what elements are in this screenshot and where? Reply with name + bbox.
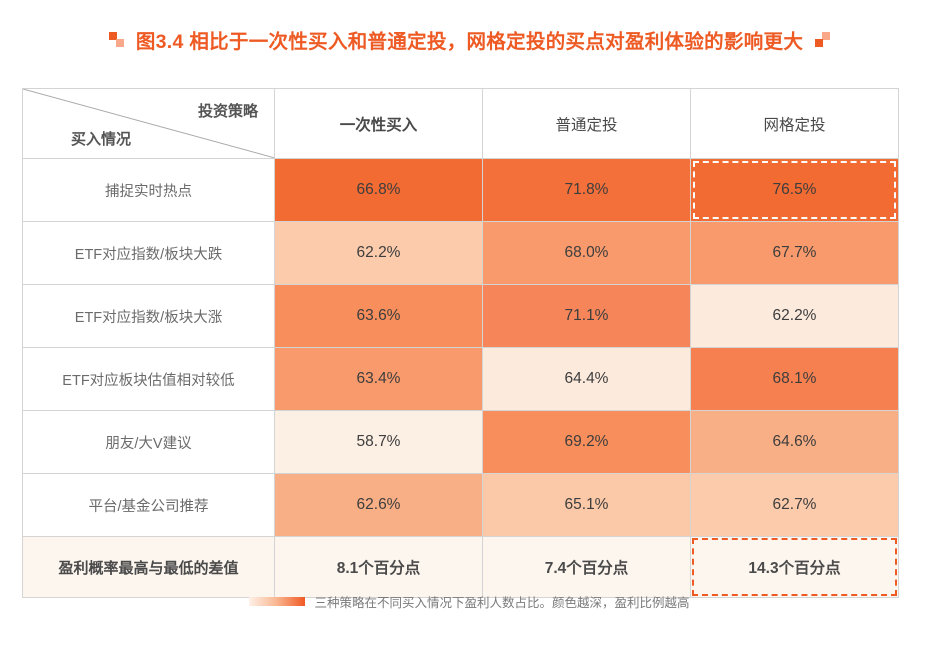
table-row: 朋友/大V建议 58.7% 69.2% 64.6%	[23, 411, 899, 474]
legend: 三种策略在不同买入情况下盈利人数占比。颜色越深，盈利比例越高	[0, 592, 939, 611]
column-header-2: 网格定投	[691, 89, 899, 159]
row-label-2: ETF对应指数/板块大涨	[23, 285, 275, 348]
heat-cell-0-0: 66.8%	[275, 159, 483, 222]
heat-cell-4-0: 58.7%	[275, 411, 483, 474]
summary-cell-2-highlighted: 14.3个百分点	[691, 537, 899, 598]
table-row: 捕捉实时热点 66.8% 71.8% 76.5%	[23, 159, 899, 222]
summary-row-label: 盈利概率最高与最低的差值	[23, 537, 275, 598]
heat-cell-5-2: 62.7%	[691, 474, 899, 537]
table-row: ETF对应指数/板块大涨 63.6% 71.1% 62.2%	[23, 285, 899, 348]
table-row: ETF对应指数/板块大跌 62.2% 68.0% 67.7%	[23, 222, 899, 285]
row-label-4: 朋友/大V建议	[23, 411, 275, 474]
legend-gradient-bar-icon	[249, 597, 305, 606]
heat-cell-3-0: 63.4%	[275, 348, 483, 411]
heatmap-table: 投资策略 买入情况 一次性买入 普通定投 网格定投 捕捉实时热点 66.8% 7…	[22, 88, 899, 598]
chart-title-bar: 图3.4 相比于一次性买入和普通定投，网格定投的买点对盈利体验的影响更大	[0, 22, 939, 56]
stepped-squares-icon-right	[815, 32, 830, 47]
table-row: 平台/基金公司推荐 62.6% 65.1% 62.7%	[23, 474, 899, 537]
summary-cell-1: 7.4个百分点	[483, 537, 691, 598]
legend-label: 三种策略在不同买入情况下盈利人数占比。颜色越深，盈利比例越高	[314, 592, 689, 611]
heat-cell-5-1: 65.1%	[483, 474, 691, 537]
heat-cell-3-2: 68.1%	[691, 348, 899, 411]
corner-header-row-label: 买入情况	[71, 128, 131, 149]
heat-cell-0-2-highlighted: 76.5%	[691, 159, 899, 222]
table-header-row: 投资策略 买入情况 一次性买入 普通定投 网格定投	[23, 89, 899, 159]
heatmap-table-container: 投资策略 买入情况 一次性买入 普通定投 网格定投 捕捉实时热点 66.8% 7…	[22, 88, 898, 598]
heat-cell-5-0: 62.6%	[275, 474, 483, 537]
heat-cell-1-2: 67.7%	[691, 222, 899, 285]
heat-cell-2-2: 62.2%	[691, 285, 899, 348]
corner-header-cell: 投资策略 买入情况	[23, 89, 275, 159]
row-label-0: 捕捉实时热点	[23, 159, 275, 222]
heat-cell-4-1: 69.2%	[483, 411, 691, 474]
heat-cell-1-1: 68.0%	[483, 222, 691, 285]
row-label-3: ETF对应板块估值相对较低	[23, 348, 275, 411]
heat-cell-1-0: 62.2%	[275, 222, 483, 285]
heat-cell-3-1: 64.4%	[483, 348, 691, 411]
row-label-1: ETF对应指数/板块大跌	[23, 222, 275, 285]
stepped-squares-icon-left	[109, 32, 124, 47]
summary-cell-0: 8.1个百分点	[275, 537, 483, 598]
column-header-1: 普通定投	[483, 89, 691, 159]
column-header-0: 一次性买入	[275, 89, 483, 159]
heat-cell-0-1: 71.8%	[483, 159, 691, 222]
heat-cell-2-1: 71.1%	[483, 285, 691, 348]
corner-header-column-label: 投资策略	[198, 100, 258, 121]
heat-cell-4-2: 64.6%	[691, 411, 899, 474]
page-title: 图3.4 相比于一次性买入和普通定投，网格定投的买点对盈利体验的影响更大	[136, 25, 803, 54]
heat-cell-2-0: 63.6%	[275, 285, 483, 348]
summary-row: 盈利概率最高与最低的差值 8.1个百分点 7.4个百分点 14.3个百分点	[23, 537, 899, 598]
table-row: ETF对应板块估值相对较低 63.4% 64.4% 68.1%	[23, 348, 899, 411]
row-label-5: 平台/基金公司推荐	[23, 474, 275, 537]
